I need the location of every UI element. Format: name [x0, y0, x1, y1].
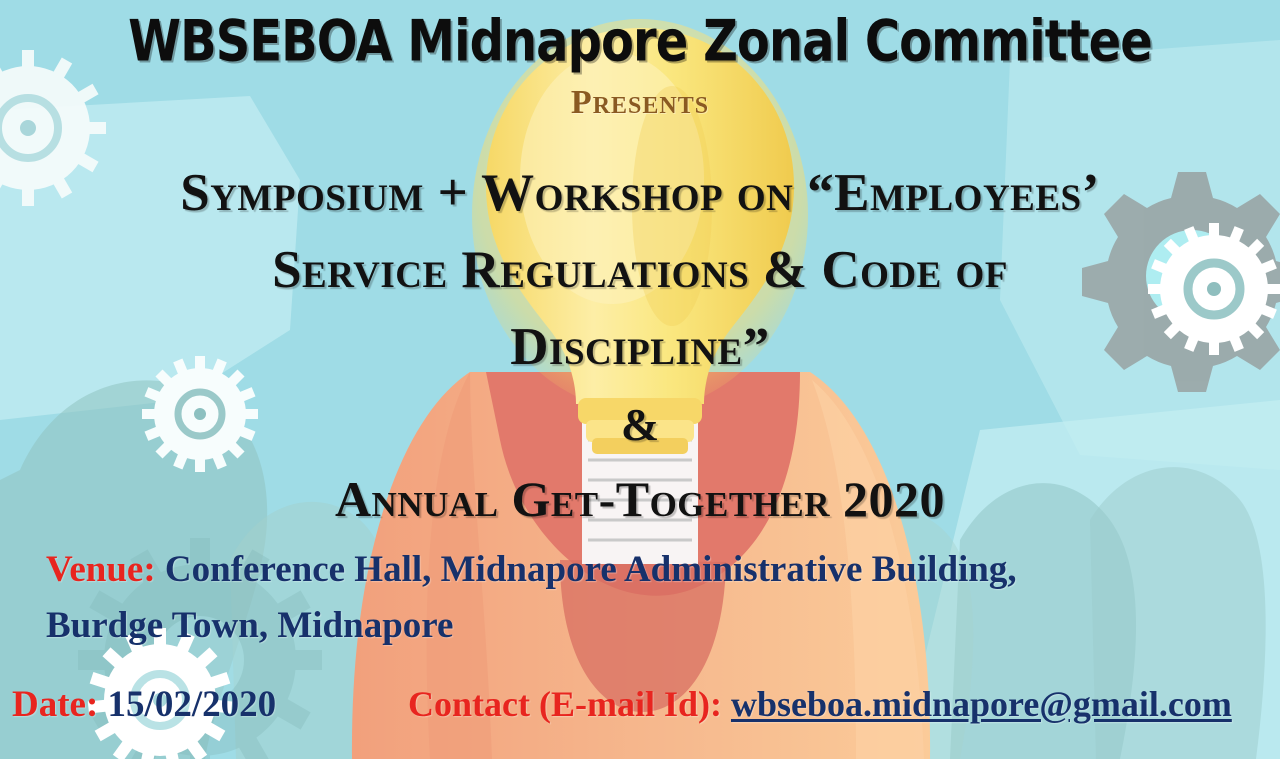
presents-label: Presents [0, 84, 1280, 122]
date-line: Date: 15/02/2020 [12, 683, 276, 726]
headline-line-1: Symposium + Workshop on “Employees’ [0, 163, 1280, 223]
headline-line-3: Discipline” [0, 317, 1280, 377]
venue-address-line-2: Burdge Town, Midnapore [46, 604, 453, 647]
contact-email-link[interactable]: wbseboa.midnapore@gmail.com [731, 684, 1232, 724]
event-poster: WBSEBOA Midnapore Zonal Committee Presen… [0, 0, 1280, 759]
venue-address-line-1: Conference Hall, Midnapore Administrativ… [165, 549, 1017, 590]
contact-label: Contact (E-mail Id): [408, 684, 722, 724]
headline-line-2: Service Regulations & Code of [0, 240, 1280, 300]
headline-conjunction: & [0, 398, 1280, 451]
venue-label: Venue: [46, 549, 156, 590]
venue-line-1: Venue: Conference Hall, Midnapore Admini… [46, 548, 1017, 591]
date-value: 15/02/2020 [108, 684, 277, 725]
contact-line: Contact (E-mail Id): wbseboa.midnapore@g… [408, 683, 1232, 725]
poster-content: WBSEBOA Midnapore Zonal Committee Presen… [0, 0, 1280, 759]
organization-title: WBSEBOA Midnapore Zonal Committee [26, 8, 1255, 74]
date-label: Date: [12, 684, 98, 725]
headline-line-4: Annual Get-Together 2020 [0, 470, 1280, 528]
